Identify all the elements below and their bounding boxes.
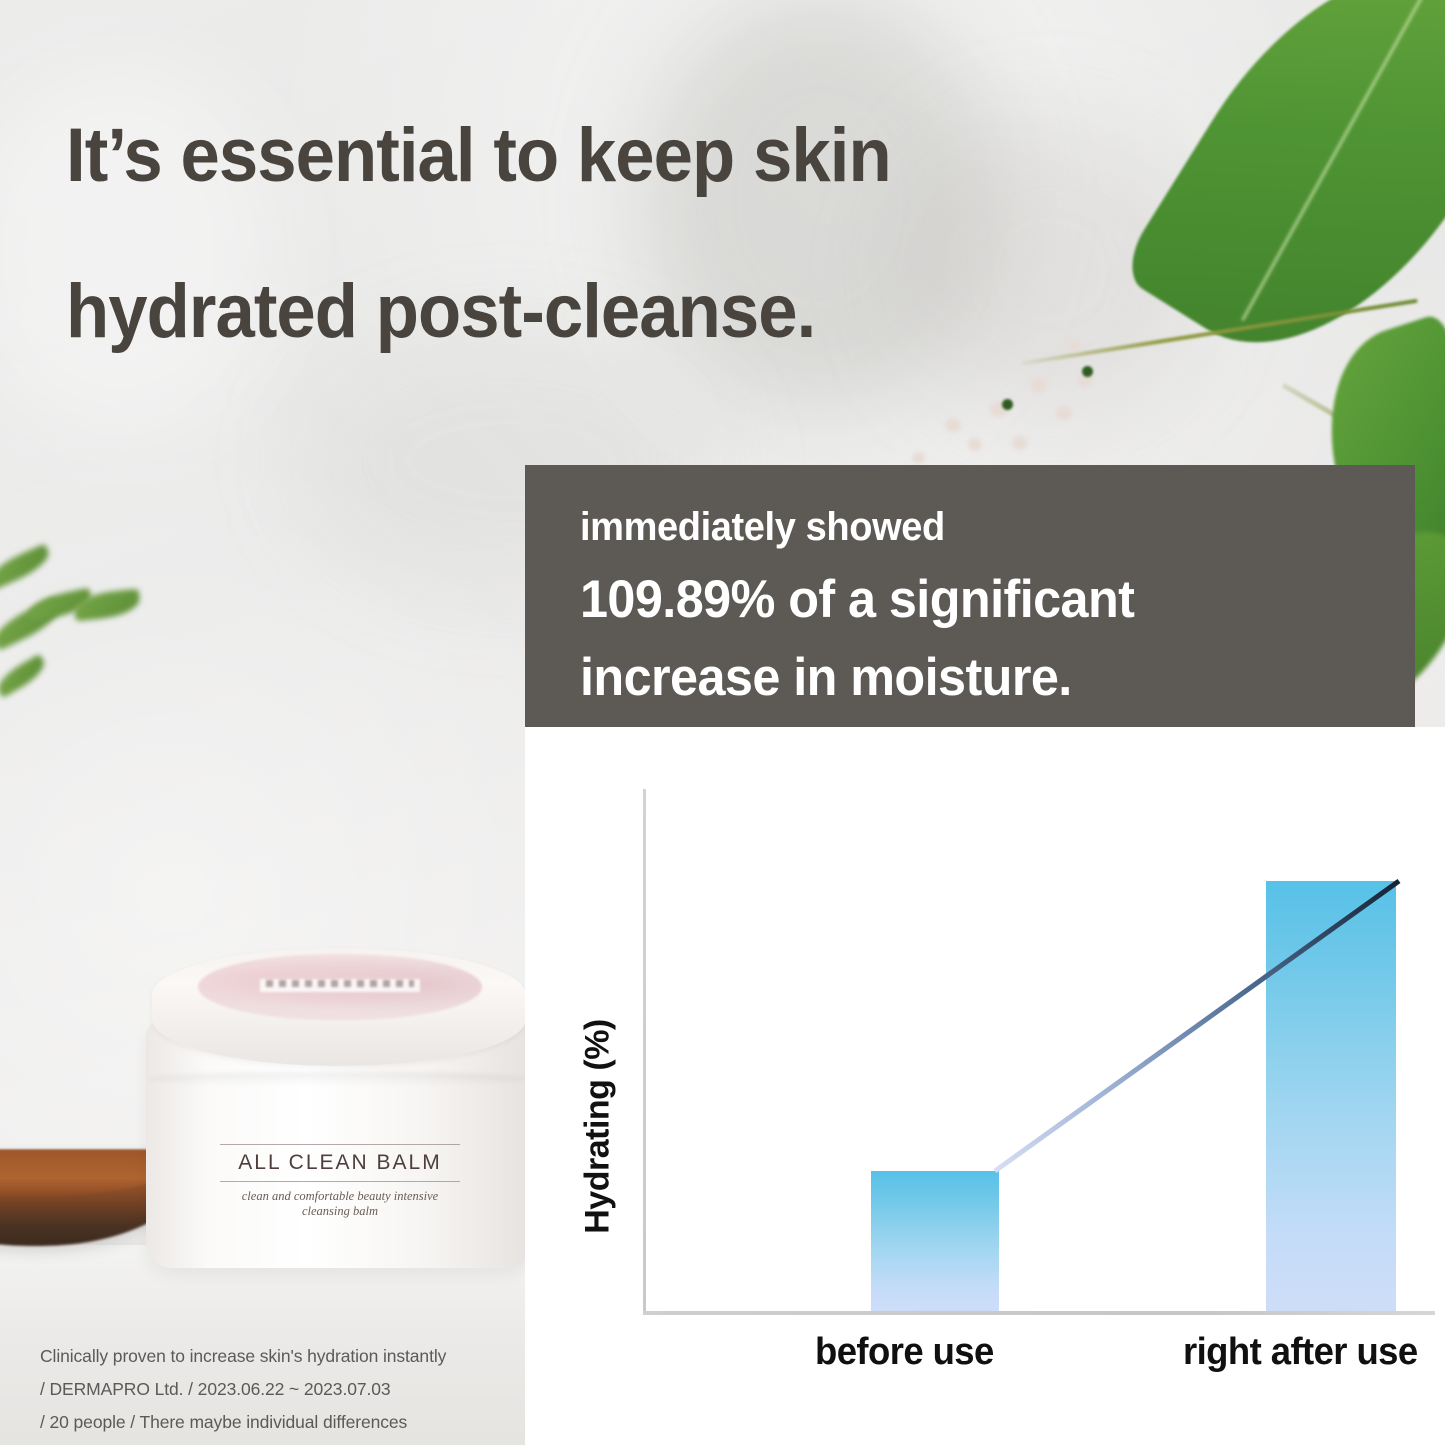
product-jar: ALL CLEAN BALM clean and comfortable bea… — [146, 948, 532, 1268]
chart-x-axis-labels: before use right after use — [643, 1331, 1435, 1391]
bud-icon — [968, 438, 982, 451]
statistic-callout: immediately showed 109.89% of a signific… — [525, 465, 1415, 727]
x-tick-label-right-after-use: right after use — [1183, 1331, 1418, 1374]
chart-x-axis-line — [643, 1311, 1435, 1315]
berry-icon — [1002, 399, 1013, 410]
jar-seam — [148, 1072, 530, 1086]
study-caption: Clinically proven to increase skin's hyd… — [40, 1340, 540, 1439]
bud-icon — [945, 418, 961, 432]
promo-graphic: ALL CLEAN BALM clean and comfortable bea… — [0, 0, 1445, 1445]
bar-before-use — [871, 1171, 999, 1313]
chart-panel: Hydrating (%) before use right after use — [525, 727, 1445, 1445]
label-rule-bottom — [220, 1181, 460, 1182]
bar-right-after-use — [1266, 881, 1396, 1313]
x-tick-label-before-use: before use — [815, 1331, 994, 1374]
chart-y-axis-label: Hydrating (%) — [579, 992, 618, 1262]
bud-icon — [912, 452, 925, 464]
bud-icon — [1012, 436, 1027, 450]
jar-front-label: ALL CLEAN BALM clean and comfortable bea… — [220, 1144, 460, 1219]
callout-eyebrow: immediately showed — [580, 505, 1373, 549]
callout-statement: 109.89% of a significant increase in moi… — [580, 561, 1373, 717]
label-rule-top — [220, 1144, 460, 1145]
chart-bars — [643, 789, 1435, 1313]
product-name: ALL CLEAN BALM — [220, 1145, 460, 1181]
product-tagline: clean and comfortable beauty intensive c… — [220, 1182, 460, 1219]
jar-top-label — [198, 954, 482, 1020]
bud-icon — [1056, 406, 1072, 420]
page-title: It’s essential to keep skin hydrated pos… — [66, 78, 1154, 390]
